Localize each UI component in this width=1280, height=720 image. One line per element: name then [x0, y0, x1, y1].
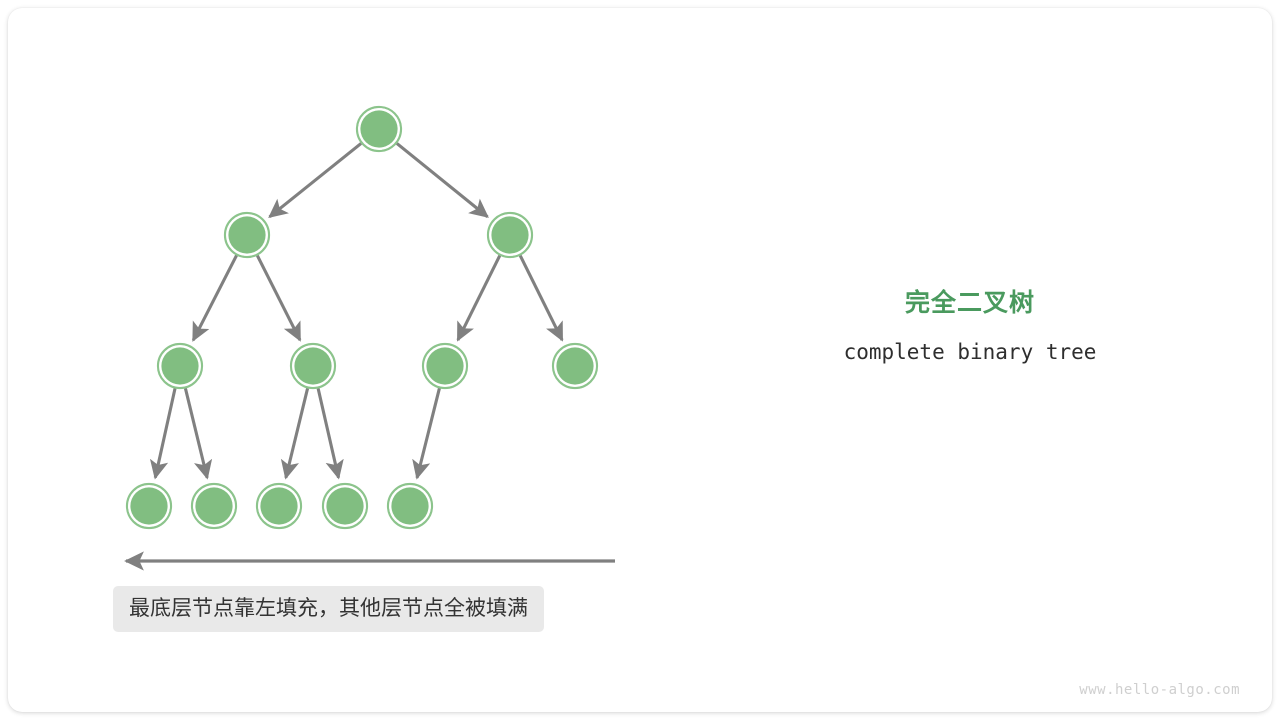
tree-node	[323, 484, 367, 528]
tree-edge	[286, 388, 308, 477]
tree-node	[192, 484, 236, 528]
tree-node-disc	[491, 216, 528, 253]
tree-node-disc	[326, 487, 363, 524]
tree-node	[553, 344, 597, 388]
tree-node-disc	[195, 487, 232, 524]
tree-node	[488, 213, 532, 257]
tree-node	[158, 344, 202, 388]
label-block: 完全二叉树 complete binary tree	[760, 288, 1180, 364]
tree-node	[225, 213, 269, 257]
tree-edge	[257, 256, 300, 341]
tree-node	[291, 344, 335, 388]
tree-node-disc	[426, 347, 463, 384]
screenshot-stage: 完全二叉树 complete binary tree 最底层节点靠左填充，其他层…	[0, 0, 1280, 720]
tree-edge	[318, 388, 338, 477]
tree-node	[257, 484, 301, 528]
tree-edge-layer	[155, 143, 562, 477]
tree-edge	[458, 256, 500, 340]
tree-edge	[193, 255, 236, 340]
tree-node	[388, 484, 432, 528]
tree-node-disc	[260, 487, 297, 524]
tree-edge	[270, 143, 361, 216]
tree-node	[423, 344, 467, 388]
watermark: www.hello-algo.com	[1079, 682, 1240, 698]
tree-node-disc	[556, 347, 593, 384]
caption-pill: 最底层节点靠左填充，其他层节点全被填满	[113, 586, 544, 632]
tree-node-disc	[130, 487, 167, 524]
tree-edge	[520, 256, 562, 340]
tree-node	[357, 107, 401, 151]
tree-edge	[185, 388, 207, 477]
page-title-en: complete binary tree	[760, 340, 1180, 364]
tree-node-disc	[391, 487, 428, 524]
tree-node-disc	[360, 110, 397, 147]
tree-node-disc	[161, 347, 198, 384]
tree-node-layer	[127, 107, 597, 528]
tree-node-disc	[294, 347, 331, 384]
page-title-cn: 完全二叉树	[760, 288, 1180, 318]
tree-edge	[397, 143, 488, 216]
tree-node-disc	[228, 216, 265, 253]
tree-node	[127, 484, 171, 528]
tree-edge	[417, 388, 439, 478]
tree-edge	[155, 388, 175, 477]
